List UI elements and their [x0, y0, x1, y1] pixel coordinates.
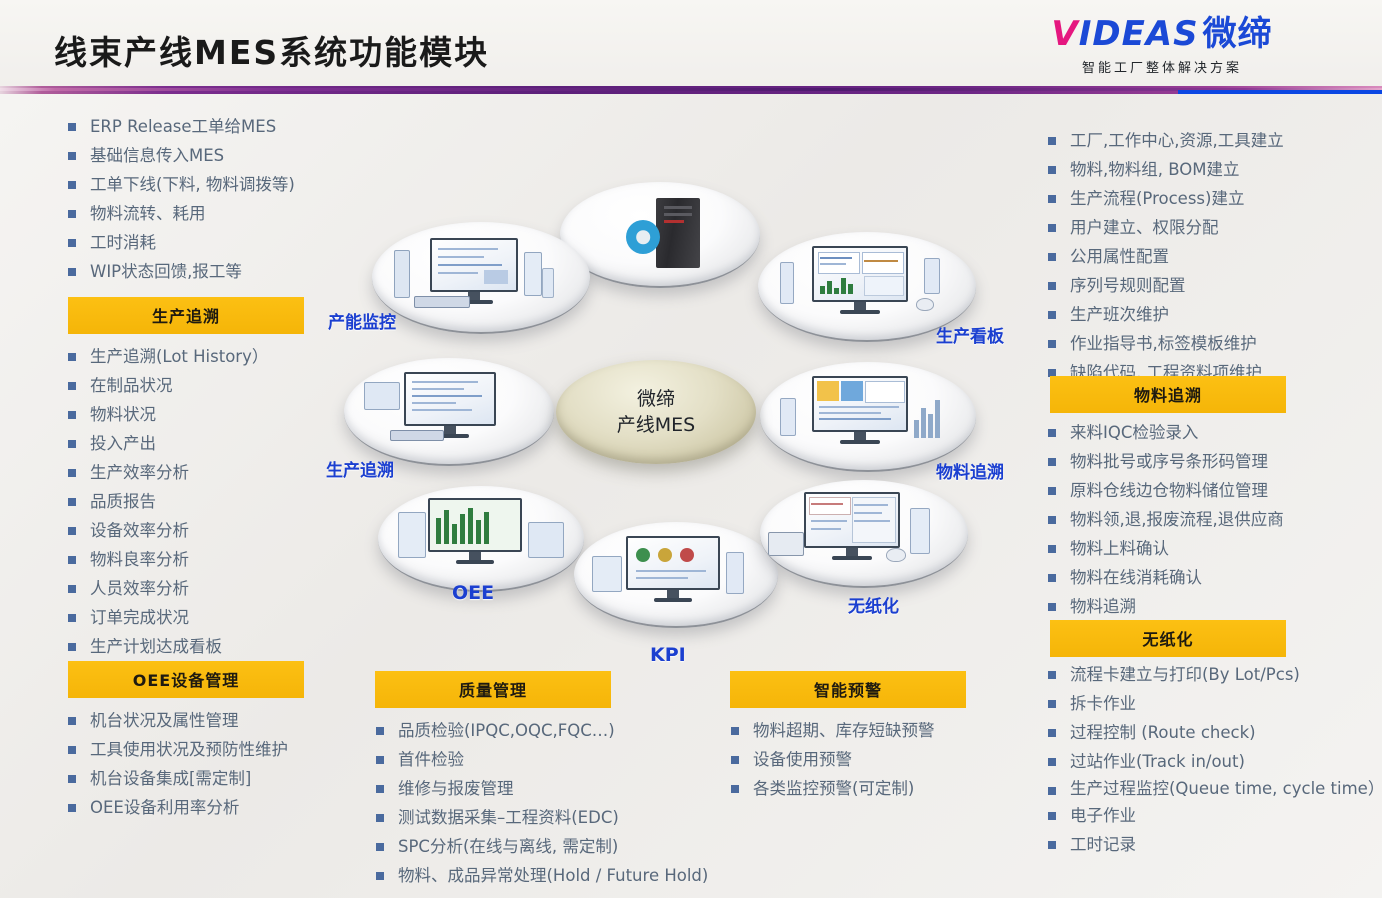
diagram-label-capacity: 产能监控 — [328, 308, 396, 333]
device-icon — [592, 556, 622, 592]
panel-title-material-trace: 物料追溯 — [1050, 376, 1286, 413]
panel-paperless-items: 流程卡建立与打印(By Lot/Pcs) 拆卡作业 过程控制 (Route ch… — [1044, 660, 1380, 859]
panel-production-trace: 生产追溯 — [68, 297, 304, 334]
server-led — [664, 220, 684, 223]
mes-module-diagram: 产能监控 生产看 — [320, 160, 1020, 680]
list-item: WIP状态回馈,报工等 — [64, 257, 364, 286]
list-item: 生产流程(Process)建立 — [1044, 184, 1374, 213]
logo-v-mark: V — [1051, 14, 1078, 54]
mouse-icon — [886, 548, 906, 562]
server-vent — [664, 206, 692, 209]
center-line-2: 产线MES — [617, 412, 695, 438]
list-item: 作业指导书,标签模板维护 — [1044, 329, 1374, 358]
page-title: 线束产线MES系统功能模块 — [54, 26, 489, 74]
diagram-label-prodtrace: 生产追溯 — [326, 456, 394, 481]
header-divider-highlight — [0, 88, 1382, 91]
list-item: 物料流转、耗用 — [64, 199, 364, 228]
brand-logo: VIDEAS微缔 智能工厂整体解决方案 — [1012, 14, 1312, 76]
mouse-icon — [916, 298, 934, 311]
list-item: 工时记录 — [1044, 830, 1380, 859]
diagram-node-paperless[interactable] — [760, 480, 968, 588]
list-item: ERP Release工单给MES — [64, 112, 364, 141]
list-item: 机台设备集成[需定制] — [64, 764, 384, 793]
list-item: 物料超期、库存短缺预警 — [727, 716, 1027, 745]
device-icon — [542, 268, 554, 298]
list-item: 投入产出 — [64, 429, 364, 458]
list-item: 生产效率分析 — [64, 458, 364, 487]
list-item: 生产追溯(Lot History） — [64, 342, 364, 371]
list-item: 流程卡建立与打印(By Lot/Pcs) — [1044, 660, 1380, 689]
list-item: 过程控制 (Route check) — [1044, 718, 1380, 747]
monitor-icon — [428, 498, 522, 564]
list-item: 物料,物料组, BOM建立 — [1044, 155, 1374, 184]
list-item: 品质报告 — [64, 487, 364, 516]
bar-chart-icon — [914, 396, 940, 438]
basic-setup-list: 工厂,工作中心,资源,工具建立 物料,物料组, BOM建立 生产流程(Proce… — [1044, 126, 1374, 387]
diagram-node-mattrace[interactable] — [760, 362, 976, 472]
device-icon — [780, 398, 796, 436]
list-item: 物料批号或序号条形码管理 — [1044, 447, 1382, 476]
diagram-label-oee: OEE — [452, 582, 494, 604]
list-item: 物料上料确认 — [1044, 534, 1382, 563]
list-item: 工厂,工作中心,资源,工具建立 — [1044, 126, 1374, 155]
panel-basic-setup: 工厂,工作中心,资源,工具建立 物料,物料组, BOM建立 生产流程(Proce… — [1044, 126, 1374, 387]
list-item: 工单下线(下料, 物料调拨等) — [64, 170, 364, 199]
logo-ideas-text: IDEAS — [1079, 14, 1199, 54]
panel-alert-items: 物料超期、库存短缺预警 设备使用预警 各类监控预警(可定制) — [727, 716, 1027, 803]
gear-icon — [626, 220, 660, 254]
panel-title-paperless: 无纸化 — [1050, 620, 1286, 657]
panel-oee: OEE设备管理 — [68, 661, 304, 698]
device-icon — [364, 382, 400, 410]
logo-tagline: 智能工厂整体解决方案 — [1012, 57, 1312, 76]
panel-title-oee: OEE设备管理 — [68, 661, 304, 698]
list-item: 工时消耗 — [64, 228, 364, 257]
list-item: 生产班次维护 — [1044, 300, 1374, 329]
panel-erp: ERP Release工单给MES 基础信息传入MES 工单下线(下料, 物料调… — [64, 112, 364, 286]
diagram-node-server[interactable] — [560, 182, 760, 288]
header-divider — [0, 86, 1382, 94]
list-item: 工具使用状况及预防性维护 — [64, 735, 384, 764]
diagram-label-dashboard: 生产看板 — [936, 322, 1004, 347]
device-icon — [524, 252, 542, 296]
list-item: 原料仓线边仓物料储位管理 — [1044, 476, 1382, 505]
logo-chinese-name: 微缔 — [1203, 14, 1273, 54]
list-item: 测试数据采集–工程资料(EDC) — [372, 803, 792, 832]
list-item: 机台状况及属性管理 — [64, 706, 384, 735]
paperless-list: 流程卡建立与打印(By Lot/Pcs) 拆卡作业 过程控制 (Route ch… — [1044, 660, 1380, 859]
panel-material-trace: 物料追溯 — [1050, 376, 1286, 413]
list-item: 过站作业(Track in/out) — [1044, 747, 1380, 776]
device-icon — [910, 508, 930, 554]
device-icon — [528, 522, 564, 558]
list-item: 序列号规则配置 — [1044, 271, 1374, 300]
list-item: 订单完成状况 — [64, 603, 364, 632]
device-icon — [780, 262, 794, 304]
diagram-node-prodtrace[interactable] — [344, 358, 554, 466]
list-item: 物料、成品异常处理(Hold / Future Hold) — [372, 861, 792, 890]
list-item: 拆卡作业 — [1044, 689, 1380, 718]
list-item: OEE设备利用率分析 — [64, 793, 384, 822]
monitor-icon — [404, 372, 496, 438]
list-item: 物料在线消耗确认 — [1044, 563, 1382, 592]
list-item: 用户建立、权限分配 — [1044, 213, 1374, 242]
panel-oee-items: 机台状况及属性管理 工具使用状况及预防性维护 机台设备集成[需定制] OEE设备… — [64, 706, 384, 822]
list-item: 物料追溯 — [1044, 592, 1382, 621]
alert-list: 物料超期、库存短缺预警 设备使用预警 各类监控预警(可定制) — [727, 716, 1027, 803]
monitor-icon — [626, 536, 720, 602]
center-line-1: 微缔 — [637, 386, 675, 412]
list-item: 物料状况 — [64, 400, 364, 429]
diagram-label-mattrace: 物料追溯 — [936, 458, 1004, 483]
erp-list: ERP Release工单给MES 基础信息传入MES 工单下线(下料, 物料调… — [64, 112, 364, 286]
diagram-center-node[interactable]: 微缔 产线MES — [556, 360, 756, 464]
header-divider-blue — [1178, 90, 1382, 94]
list-item: 公用属性配置 — [1044, 242, 1374, 271]
panel-paperless: 无纸化 — [1050, 620, 1286, 657]
printer-icon — [768, 532, 804, 556]
list-item: 生产过程监控(Queue time, cycle time） — [1044, 776, 1380, 801]
monitor-icon — [812, 246, 908, 314]
list-item: 物料良率分析 — [64, 545, 364, 574]
list-item: 设备效率分析 — [64, 516, 364, 545]
monitor-icon — [804, 492, 900, 560]
list-item: 设备使用预警 — [727, 745, 1027, 774]
list-item: 人员效率分析 — [64, 574, 364, 603]
list-item: 电子作业 — [1044, 801, 1380, 830]
page-header: 线束产线MES系统功能模块 VIDEAS微缔 智能工厂整体解决方案 — [0, 0, 1382, 86]
diagram-label-paperless: 无纸化 — [848, 592, 899, 617]
production-trace-list: 生产追溯(Lot History） 在制品状况 物料状况 投入产出 生产效率分析… — [64, 342, 364, 690]
list-item: 基础信息传入MES — [64, 141, 364, 170]
panel-production-trace-items: 生产追溯(Lot History） 在制品状况 物料状况 投入产出 生产效率分析… — [64, 342, 364, 690]
panel-material-trace-items: 来料IQC检验录入 物料批号或序号条形码管理 原料仓线边仓物料储位管理 物料领,… — [1044, 418, 1382, 621]
device-icon — [398, 512, 426, 558]
keyboard-icon — [414, 296, 470, 308]
device-icon — [726, 552, 744, 594]
keyboard-icon — [390, 430, 444, 441]
list-item: 生产计划达成看板 — [64, 632, 364, 661]
logo-wordmark: VIDEAS微缔 — [1012, 14, 1312, 54]
list-item: 各类监控预警(可定制) — [727, 774, 1027, 803]
diagram-label-kpi: KPI — [650, 644, 686, 666]
monitor-icon — [812, 376, 908, 444]
list-item: SPC分析(在线与离线, 需定制) — [372, 832, 792, 861]
diagram-node-kpi[interactable] — [574, 522, 778, 628]
device-icon — [924, 258, 940, 294]
list-item: 物料领,退,报废流程,退供应商 — [1044, 505, 1382, 534]
list-item: 在制品状况 — [64, 371, 364, 400]
device-icon — [394, 250, 410, 298]
oee-list: 机台状况及属性管理 工具使用状况及预防性维护 机台设备集成[需定制] OEE设备… — [64, 706, 384, 822]
list-item: 来料IQC检验录入 — [1044, 418, 1382, 447]
diagram-node-oee[interactable] — [378, 486, 584, 592]
panel-title-production-trace: 生产追溯 — [68, 297, 304, 334]
material-trace-list: 来料IQC检验录入 物料批号或序号条形码管理 原料仓线边仓物料储位管理 物料领,… — [1044, 418, 1382, 621]
monitor-icon — [430, 238, 518, 304]
slide-root: 线束产线MES系统功能模块 VIDEAS微缔 智能工厂整体解决方案 ERP Re… — [0, 0, 1382, 898]
server-vent — [664, 213, 692, 216]
diagram-node-capacity[interactable] — [372, 222, 590, 334]
